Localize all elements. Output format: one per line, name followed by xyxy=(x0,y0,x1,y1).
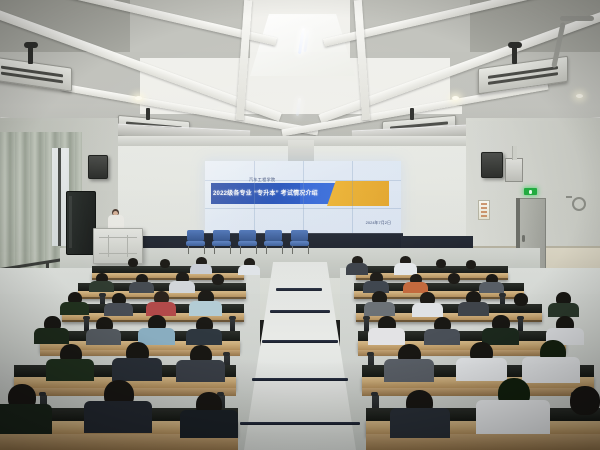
wall-bracket xyxy=(566,196,572,198)
audience-torso xyxy=(138,328,175,345)
audience-torso xyxy=(169,281,195,293)
aisle-step-nosing xyxy=(276,288,322,291)
audience-torso xyxy=(482,328,519,345)
audience-torso xyxy=(368,328,405,345)
electrical-box xyxy=(505,158,523,182)
wall-conduit xyxy=(512,146,517,160)
wall-speaker xyxy=(88,155,108,179)
audience-head xyxy=(436,259,446,268)
audience-torso xyxy=(190,264,212,274)
speaker-cabinet xyxy=(66,191,96,255)
aisle-step-nosing xyxy=(270,310,330,313)
audience-torso xyxy=(0,404,52,434)
stage-chair xyxy=(238,230,257,254)
audience-head xyxy=(570,386,600,415)
desk-front-panel xyxy=(362,388,594,396)
audience-torso xyxy=(476,400,550,434)
stage-chair xyxy=(212,230,231,254)
wall-speaker xyxy=(481,152,503,178)
audience-torso xyxy=(364,302,395,316)
audience-torso xyxy=(34,328,69,344)
audience-torso xyxy=(186,329,222,345)
audience-torso xyxy=(238,265,260,275)
audience-torso xyxy=(548,303,579,317)
recessed-downlight xyxy=(576,94,583,98)
stage-chair xyxy=(290,230,309,254)
audience-torso xyxy=(86,329,121,345)
audience-head xyxy=(128,258,138,267)
stage-chair xyxy=(186,230,205,254)
aisle-step-nosing xyxy=(262,340,338,343)
audience-torso xyxy=(46,359,94,381)
audience-torso xyxy=(456,358,507,381)
audience-head xyxy=(160,259,170,268)
audience-torso xyxy=(146,302,176,316)
desk-front-panel xyxy=(358,350,566,356)
audience-torso xyxy=(479,282,504,293)
aisle-step-nosing xyxy=(240,422,360,425)
audience-torso xyxy=(176,360,225,382)
audience-torso xyxy=(60,302,89,315)
audience-torso xyxy=(458,302,489,316)
audience-torso xyxy=(180,410,238,438)
audience-torso xyxy=(84,401,152,433)
panel-seams xyxy=(205,161,401,233)
audience-torso xyxy=(384,359,434,382)
exit-sign-icon xyxy=(524,188,537,195)
audience-torso xyxy=(522,357,580,383)
audience-torso xyxy=(104,303,133,316)
wall-notice xyxy=(478,200,490,220)
audience-head xyxy=(466,260,476,269)
audience-torso xyxy=(390,408,450,438)
led-video-wall[interactable]: 汽车工程学院 2022级各专业 “专升本” 考试情况介绍 2024年7月2日 xyxy=(205,161,401,233)
audience-torso xyxy=(412,303,443,317)
window-mullion xyxy=(58,148,61,246)
audience-torso xyxy=(424,329,460,345)
audience-torso xyxy=(112,358,162,381)
lecture-hall-photo: 汽车工程学院 2022级各专业 “专升本” 考试情况介绍 2024年7月2日 xyxy=(0,0,600,450)
audience-head xyxy=(514,293,528,306)
audience-torso xyxy=(89,281,114,292)
audience-torso xyxy=(129,282,154,293)
ceiling-pipe xyxy=(560,16,594,21)
stage-chair xyxy=(264,230,283,254)
recessed-downlight xyxy=(135,96,142,100)
aisle-step-nosing xyxy=(252,378,348,381)
audience-head xyxy=(448,273,460,284)
wall-clock xyxy=(572,197,586,211)
audience-head xyxy=(212,274,224,285)
audience-torso xyxy=(189,301,222,316)
audience-torso xyxy=(346,263,368,275)
recessed-downlight xyxy=(452,96,459,100)
